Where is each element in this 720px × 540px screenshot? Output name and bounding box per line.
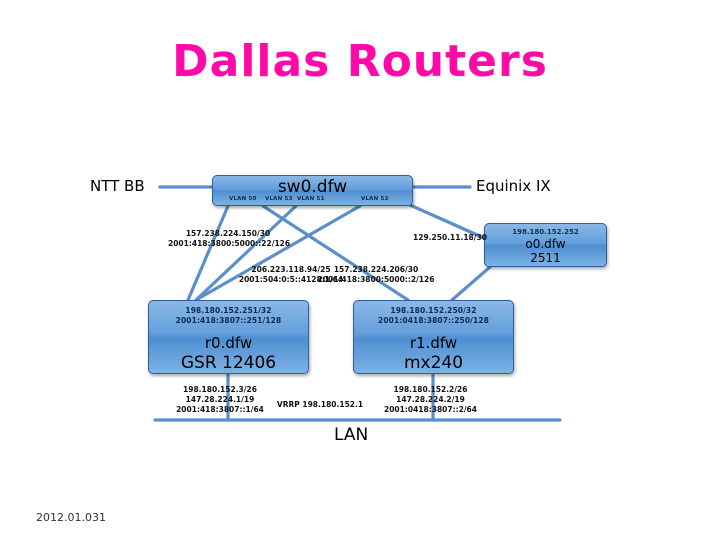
- vlan-port-51[interactable]: VLAN 51: [297, 196, 325, 202]
- lan-right-ipv4-a: 198.180.152.2/26: [368, 385, 493, 395]
- label-lan-right-addresses: 198.180.152.2/26 147.28.224.2/19 2001:04…: [368, 385, 493, 415]
- vrrp-virtual-ip: VRRP 198.180.152.1: [270, 400, 370, 410]
- node-o0-dfw[interactable]: 198.180.152.252 o0.dfw 2511: [484, 223, 607, 267]
- link-o0-to-r1: [452, 267, 490, 300]
- lan-left-ipv6: 2001:418:3807::1/64: [160, 405, 280, 415]
- node-r1-dfw[interactable]: 198.180.152.250/32 2001:0418:3807::250/1…: [353, 300, 514, 374]
- oob-link-ipv4: 129.250.11.18/30: [400, 233, 500, 243]
- o0-management-ip: 198.180.152.252: [485, 228, 606, 237]
- o0-device-model: 2511: [485, 251, 606, 265]
- r0-loopback-ipv6: 2001:418:3807::251/128: [149, 316, 308, 326]
- label-oob-link-address: 129.250.11.18/30: [400, 233, 500, 243]
- transit-peer-ipv4: 157.238.224.206/30: [316, 265, 436, 275]
- sw0-device-name: sw0.dfw: [213, 176, 412, 197]
- label-equinix-ix: Equinix IX: [476, 177, 551, 195]
- slide-footer-date: 2012.01.031: [36, 511, 106, 524]
- transit-peer-ipv6: 2001:418:3800:5000::2/126: [316, 275, 436, 285]
- label-ntt-uplink-addresses: 157.238.224.150/30 2001:418:3800:5000::2…: [168, 229, 288, 249]
- r1-loopback-ipv6: 2001:0418:3807::250/128: [354, 316, 513, 326]
- r1-loopback-ipv4: 198.180.152.250/32: [354, 306, 513, 316]
- label-lan: LAN: [334, 425, 368, 445]
- label-vrrp-address: VRRP 198.180.152.1: [270, 400, 370, 410]
- vlan-port-53[interactable]: VLAN 53: [265, 196, 293, 202]
- label-ntt-bb: NTT BB: [90, 177, 145, 195]
- lan-right-ipv6: 2001:0418:3807::2/64: [368, 405, 493, 415]
- r0-device-name: r0.dfw: [149, 334, 308, 353]
- lan-left-ipv4-b: 147.28.224.1/19: [160, 395, 280, 405]
- ntt-uplink-ipv4: 157.238.224.150/30: [168, 229, 288, 239]
- vlan-port-52[interactable]: VLAN 52: [361, 196, 389, 202]
- node-r0-dfw[interactable]: 198.180.152.251/32 2001:418:3807::251/12…: [148, 300, 309, 374]
- vlan-port-50[interactable]: VLAN 50: [229, 196, 257, 202]
- sw0-vlan-row: VLAN 50 VLAN 53 VLAN 51 VLAN 52: [213, 196, 414, 207]
- r0-device-model: GSR 12406: [149, 353, 308, 373]
- slide-canvas: Dallas Routers NTT B: [0, 0, 720, 540]
- o0-device-name: o0.dfw: [485, 237, 606, 251]
- lan-right-ipv4-b: 147.28.224.2/19: [368, 395, 493, 405]
- r1-device-name: r1.dfw: [354, 334, 513, 353]
- r1-device-model: mx240: [354, 353, 513, 373]
- node-sw0-dfw[interactable]: sw0.dfw VLAN 50 VLAN 53 VLAN 51 VLAN 52: [212, 175, 413, 206]
- label-lan-left-addresses: 198.180.152.3/26 147.28.224.1/19 2001:41…: [160, 385, 280, 415]
- label-transit-peer-addresses: 157.238.224.206/30 2001:418:3800:5000::2…: [316, 265, 436, 285]
- r0-loopback-ipv4: 198.180.152.251/32: [149, 306, 308, 316]
- ntt-uplink-ipv6: 2001:418:3800:5000::22/126: [168, 239, 288, 249]
- lan-left-ipv4-a: 198.180.152.3/26: [160, 385, 280, 395]
